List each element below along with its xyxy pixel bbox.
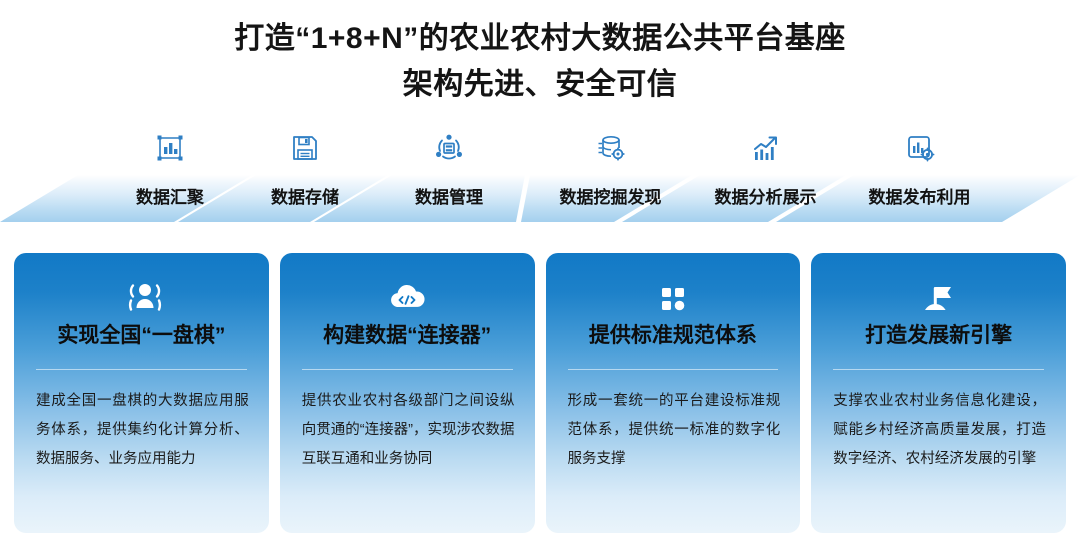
band-step-data-mining[interactable]: 数据挖掘发现	[523, 130, 698, 222]
page-title: 打造“1+8+N”的农业农村大数据公共平台基座 架构先进、安全可信	[0, 16, 1080, 108]
card-description: 建成全国一盘棋的大数据应用服务体系，提供集约化计算分析、数据服务、业务应用能力	[36, 387, 249, 474]
band-step-label: 数据管理	[369, 180, 529, 216]
title-line-2: 架构先进、安全可信	[0, 62, 1080, 108]
card-divider	[568, 369, 779, 370]
band-step-data-analysis[interactable]: 数据分析展示	[678, 130, 853, 222]
card-title: 实现全国“一盘棋”	[14, 321, 269, 351]
card-description: 支撑农业农村业务信息化建设，赋能乡村经济高质量发展，打造数字经济、农村经济发展的…	[833, 387, 1046, 474]
feature-card-national-chess[interactable]: 实现全国“一盘棋” 建成全国一盘棋的大数据应用服务体系，提供集约化计算分析、数据…	[14, 253, 269, 533]
server-network-icon	[432, 132, 466, 166]
cloud-code-icon	[385, 279, 429, 319]
band-step-data-storage[interactable]: 数据存储	[225, 130, 385, 222]
band-step-label: 数据挖掘发现	[523, 180, 698, 216]
report-gear-icon	[903, 132, 937, 166]
database-gear-icon	[594, 132, 628, 166]
band-step-label: 数据分析展示	[678, 180, 853, 216]
band-step-data-management[interactable]: 数据管理	[369, 130, 529, 222]
band-step-label: 数据发布利用	[832, 180, 1007, 216]
card-description: 形成一套统一的平台建设标准规范体系，提供统一标准的数字化服务支撑	[568, 387, 781, 474]
title-line-1: 打造“1+8+N”的农业农村大数据公共平台基座	[0, 16, 1080, 62]
card-divider	[36, 369, 247, 370]
card-description: 提供农业农村各级部门之间设纵向贯通的“连接器”，实现涉农数据互联互通和业务协同	[302, 387, 515, 474]
feature-cards: 实现全国“一盘棋” 建成全国一盘棋的大数据应用服务体系，提供集约化计算分析、数据…	[14, 253, 1066, 533]
band-step-data-publishing[interactable]: 数据发布利用	[832, 130, 1007, 222]
bar-chart-frame-icon	[153, 132, 187, 166]
card-title: 打造发展新引擎	[811, 321, 1066, 351]
users-group-icon	[119, 279, 163, 319]
floppy-save-icon	[288, 132, 322, 166]
card-divider	[302, 369, 513, 370]
grid-blocks-icon	[651, 279, 695, 319]
process-band: 数据汇聚 数据存储	[0, 130, 1080, 222]
flag-icon	[917, 279, 961, 319]
feature-card-standard-system[interactable]: 提供标准规范体系 形成一套统一的平台建设标准规范体系，提供统一标准的数字化服务支…	[546, 253, 801, 533]
card-title: 构建数据“连接器”	[280, 321, 535, 351]
band-step-label: 数据存储	[225, 180, 385, 216]
feature-card-data-connector[interactable]: 构建数据“连接器” 提供农业农村各级部门之间设纵向贯通的“连接器”，实现涉农数据…	[280, 253, 535, 533]
card-title: 提供标准规范体系	[546, 321, 801, 351]
card-divider	[833, 369, 1044, 370]
feature-card-new-engine[interactable]: 打造发展新引擎 支撑农业农村业务信息化建设，赋能乡村经济高质量发展，打造数字经济…	[811, 253, 1066, 533]
trend-chart-icon	[749, 132, 783, 166]
